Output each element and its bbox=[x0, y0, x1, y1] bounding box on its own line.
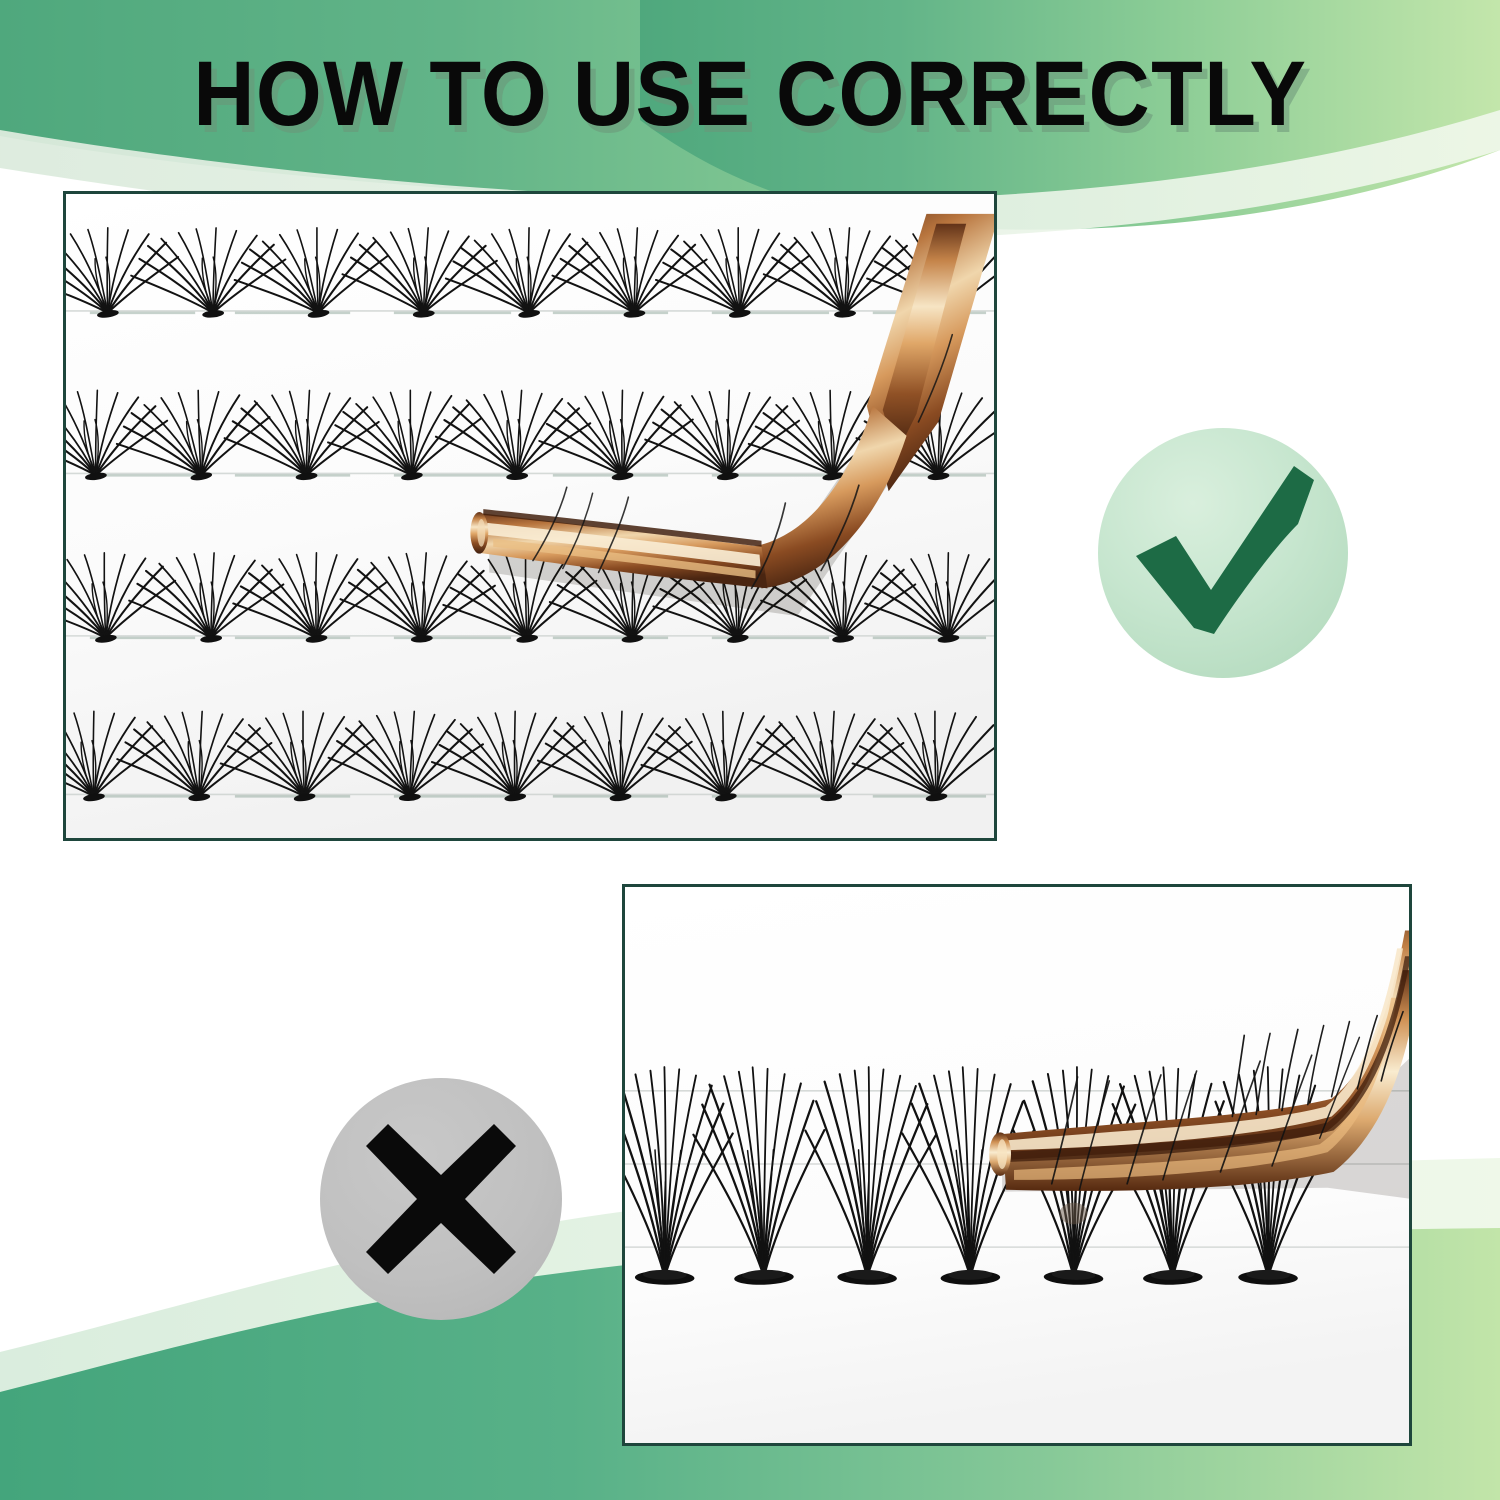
correct-usage-photo bbox=[63, 191, 997, 841]
check-icon bbox=[1098, 428, 1348, 678]
infographic-canvas: HOW TO USE CORRECTLY bbox=[0, 0, 1500, 1500]
cross-glyph bbox=[320, 1078, 562, 1320]
cross-icon bbox=[320, 1078, 562, 1320]
correct-usage-illustration bbox=[66, 194, 994, 838]
incorrect-usage-illustration bbox=[625, 887, 1409, 1443]
check-glyph bbox=[1098, 428, 1348, 678]
page-title-wrapper: HOW TO USE CORRECTLY bbox=[0, 44, 1500, 144]
incorrect-usage-photo bbox=[622, 884, 1412, 1446]
page-title: HOW TO USE CORRECTLY bbox=[193, 44, 1307, 144]
